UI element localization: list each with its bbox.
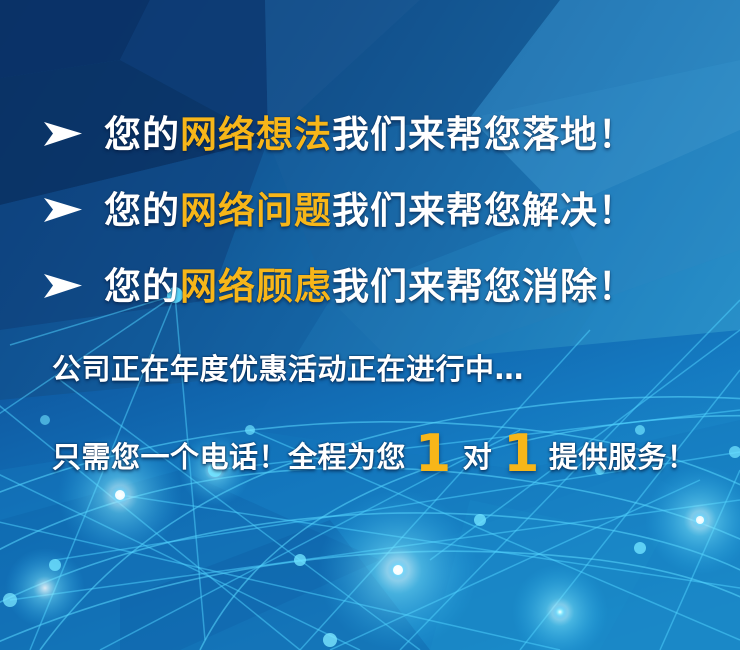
promo-service-line: 只需您一个电话！全程为您 1 对 1 提供服务！ <box>52 430 696 472</box>
service-line-part2: 提供服务！ <box>549 443 697 472</box>
arrow-right-icon <box>42 195 84 225</box>
bullet-suffix-3: 我们来帮您消除！ <box>332 265 636 308</box>
bullet-list: 您的网络想法我们来帮您落地！ 您的网络问题我们来帮您解决！ 您的网络顾虑我们来帮… <box>0 96 740 324</box>
service-mid-word: 对 <box>461 443 495 472</box>
bullet-prefix-2: 您的 <box>104 189 180 232</box>
service-number-first: 1 <box>406 434 461 476</box>
bullet-prefix-3: 您的 <box>104 265 180 308</box>
service-number-second: 1 <box>494 434 549 476</box>
bullet-highlight-2: 网络问题 <box>180 189 332 232</box>
bullet-text-2: 您的网络问题我们来帮您解决！ <box>104 192 636 229</box>
promo-subtext-block: 公司正在年度优惠活动正在进行中… 只需您一个电话！全程为您 1 对 1 提供服务… <box>52 355 696 472</box>
arrow-right-icon <box>42 271 84 301</box>
promo-banner: 您的网络想法我们来帮您落地！ 您的网络问题我们来帮您解决！ 您的网络顾虑我们来帮… <box>0 0 740 650</box>
arrow-right-icon <box>42 119 84 149</box>
bullet-suffix-2: 我们来帮您解决！ <box>332 189 636 232</box>
bullet-suffix-1: 我们来帮您落地！ <box>332 113 636 156</box>
service-line-part1: 只需您一个电话！全程为您 <box>52 443 406 472</box>
bullet-prefix-1: 您的 <box>104 113 180 156</box>
bullet-text-3: 您的网络顾虑我们来帮您消除！ <box>104 268 636 305</box>
bullet-text-1: 您的网络想法我们来帮您落地！ <box>104 116 636 153</box>
bullet-row-1: 您的网络想法我们来帮您落地！ <box>0 96 740 172</box>
promo-activity-line: 公司正在年度优惠活动正在进行中… <box>52 355 696 384</box>
bullet-row-3: 您的网络顾虑我们来帮您消除！ <box>0 248 740 324</box>
bullet-highlight-1: 网络想法 <box>180 113 332 156</box>
bullet-row-2: 您的网络问题我们来帮您解决！ <box>0 172 740 248</box>
bullet-highlight-3: 网络顾虑 <box>180 265 332 308</box>
